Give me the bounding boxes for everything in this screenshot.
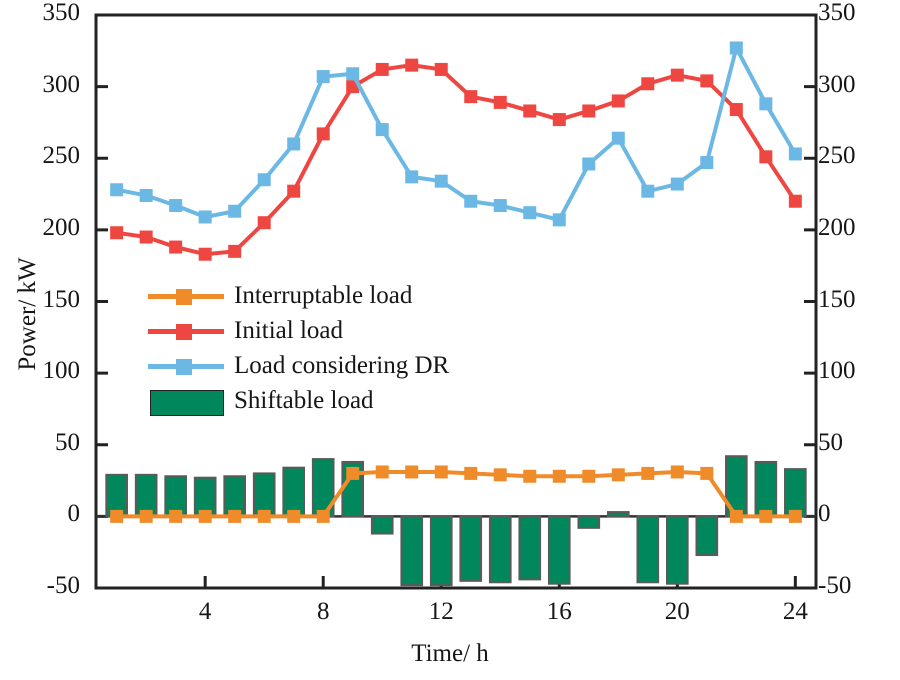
y-tick-label-right: 250	[818, 142, 898, 170]
marker-initial-load	[435, 63, 448, 76]
marker-initial-load	[110, 226, 123, 239]
marker-interruptable-load	[612, 468, 625, 481]
marker-load-considering-dr	[494, 199, 507, 212]
marker-load-considering-dr	[169, 199, 182, 212]
marker-interruptable-load	[700, 467, 713, 480]
marker-initial-load	[789, 195, 802, 208]
y-tick-label-right: 300	[818, 71, 898, 99]
marker-load-considering-dr	[464, 195, 477, 208]
marker-load-considering-dr	[553, 213, 566, 226]
x-tick-label: 8	[293, 598, 353, 626]
chart-canvas	[0, 0, 900, 680]
marker-load-considering-dr	[140, 189, 153, 202]
x-tick-label: 20	[647, 598, 707, 626]
x-axis-title: Time/ h	[0, 640, 900, 668]
bar-shiftable-load	[608, 512, 629, 516]
y-tick-label-right: 200	[818, 214, 898, 242]
marker-initial-load	[582, 104, 595, 117]
marker-interruptable-load	[110, 510, 123, 523]
marker-initial-load	[199, 248, 212, 261]
legend-marker-dr	[176, 359, 192, 375]
marker-interruptable-load	[169, 510, 182, 523]
bar-shiftable-load	[283, 468, 304, 517]
marker-load-considering-dr	[730, 41, 743, 54]
legend-label-interruptable-load: Interruptable load	[234, 283, 412, 308]
marker-load-considering-dr	[612, 132, 625, 145]
marker-load-considering-dr	[700, 156, 713, 169]
legend-item-load-considering-dr: Load considering DR	[148, 348, 449, 383]
marker-load-considering-dr	[523, 206, 536, 219]
marker-interruptable-load	[140, 510, 153, 523]
bar-shiftable-load	[372, 516, 393, 533]
line-initial-load	[117, 65, 796, 254]
marker-load-considering-dr	[317, 70, 330, 83]
marker-initial-load	[317, 127, 330, 140]
bar-shiftable-load	[460, 516, 481, 580]
marker-interruptable-load	[494, 468, 507, 481]
marker-interruptable-load	[671, 465, 684, 478]
marker-initial-load	[553, 113, 566, 126]
marker-load-considering-dr	[376, 123, 389, 136]
y-tick-label-right: 0	[818, 500, 898, 528]
marker-initial-load	[140, 231, 153, 244]
y-tick-label-right: -50	[818, 572, 898, 600]
marker-initial-load	[494, 96, 507, 109]
bar-shiftable-load	[785, 469, 806, 516]
x-tick-label: 4	[175, 598, 235, 626]
marker-load-considering-dr	[346, 67, 359, 80]
legend-label-shiftable-load: Shiftable load	[234, 388, 374, 413]
marker-interruptable-load	[523, 470, 536, 483]
y-tick-label-left: 350	[2, 0, 80, 27]
y-tick-label-left: 0	[2, 500, 80, 528]
marker-interruptable-load	[641, 467, 654, 480]
bar-shiftable-load	[637, 516, 658, 582]
marker-initial-load	[169, 241, 182, 254]
marker-initial-load	[612, 94, 625, 107]
marker-load-considering-dr	[258, 173, 271, 186]
marker-interruptable-load	[376, 465, 389, 478]
marker-load-considering-dr	[789, 147, 802, 160]
marker-load-considering-dr	[405, 170, 418, 183]
bar-shiftable-load	[549, 516, 570, 583]
bar-shiftable-load	[490, 516, 511, 582]
line-interruptable-load	[117, 472, 796, 516]
marker-initial-load	[671, 69, 684, 82]
bar-shiftable-load	[401, 516, 422, 585]
marker-load-considering-dr	[287, 137, 300, 150]
y-tick-label-left: -50	[2, 572, 80, 600]
marker-interruptable-load	[759, 510, 772, 523]
marker-interruptable-load	[199, 510, 212, 523]
marker-load-considering-dr	[199, 210, 212, 223]
marker-load-considering-dr	[110, 183, 123, 196]
legend-marker-interruptable	[176, 289, 192, 305]
marker-interruptable-load	[317, 510, 330, 523]
marker-load-considering-dr	[671, 178, 684, 191]
legend-key-initial-load	[148, 318, 224, 344]
bar-shiftable-load	[519, 516, 540, 579]
y-tick-label-right: 100	[818, 357, 898, 385]
chart-root: Power/ kW Power/ kW Time/ h Interruptabl…	[0, 0, 900, 680]
marker-initial-load	[700, 74, 713, 87]
marker-initial-load	[376, 63, 389, 76]
chart-legend: Interruptable load Initial load Load con…	[148, 278, 449, 418]
marker-initial-load	[258, 216, 271, 229]
y-tick-label-left: 150	[2, 286, 80, 314]
bar-shiftable-load	[431, 516, 452, 585]
legend-swatch-shiftable	[150, 390, 224, 416]
y-tick-label-left: 200	[2, 214, 80, 242]
marker-interruptable-load	[435, 465, 448, 478]
marker-interruptable-load	[464, 467, 477, 480]
legend-item-interruptable-load: Interruptable load	[148, 278, 449, 313]
y-tick-label-right: 50	[818, 429, 898, 457]
marker-interruptable-load	[789, 510, 802, 523]
marker-interruptable-load	[553, 470, 566, 483]
bar-shiftable-load	[756, 462, 777, 516]
y-tick-label-right: 350	[818, 0, 898, 27]
y-tick-label-right: 150	[818, 286, 898, 314]
legend-key-load-considering-dr	[148, 353, 224, 379]
legend-label-load-considering-dr: Load considering DR	[234, 353, 449, 378]
marker-initial-load	[287, 185, 300, 198]
marker-interruptable-load	[258, 510, 271, 523]
marker-interruptable-load	[405, 465, 418, 478]
line-load-considering-dr	[117, 48, 796, 220]
y-tick-label-left: 300	[2, 71, 80, 99]
x-tick-label: 24	[765, 598, 825, 626]
marker-initial-load	[405, 59, 418, 72]
marker-initial-load	[641, 77, 654, 90]
x-tick-label: 12	[411, 598, 471, 626]
legend-key-shiftable-load	[148, 388, 224, 414]
marker-load-considering-dr	[228, 205, 241, 218]
marker-initial-load	[730, 103, 743, 116]
marker-initial-load	[523, 104, 536, 117]
marker-initial-load	[759, 150, 772, 163]
marker-initial-load	[464, 90, 477, 103]
legend-key-interruptable-load	[148, 283, 224, 309]
marker-load-considering-dr	[759, 97, 772, 110]
y-tick-label-left: 50	[2, 429, 80, 457]
marker-interruptable-load	[287, 510, 300, 523]
x-tick-label: 16	[529, 598, 589, 626]
marker-interruptable-load	[346, 467, 359, 480]
legend-marker-initial	[176, 324, 192, 340]
marker-interruptable-load	[582, 470, 595, 483]
bar-shiftable-load	[667, 516, 688, 583]
y-tick-label-left: 100	[2, 357, 80, 385]
legend-label-initial-load: Initial load	[234, 318, 343, 343]
marker-initial-load	[228, 245, 241, 258]
marker-load-considering-dr	[641, 185, 654, 198]
bar-shiftable-load	[578, 516, 599, 527]
marker-interruptable-load	[228, 510, 241, 523]
marker-load-considering-dr	[435, 175, 448, 188]
y-tick-label-left: 250	[2, 142, 80, 170]
bar-shiftable-load	[696, 516, 717, 555]
marker-load-considering-dr	[582, 157, 595, 170]
marker-interruptable-load	[730, 510, 743, 523]
legend-item-initial-load: Initial load	[148, 313, 449, 348]
legend-item-shiftable-load: Shiftable load	[148, 383, 449, 418]
